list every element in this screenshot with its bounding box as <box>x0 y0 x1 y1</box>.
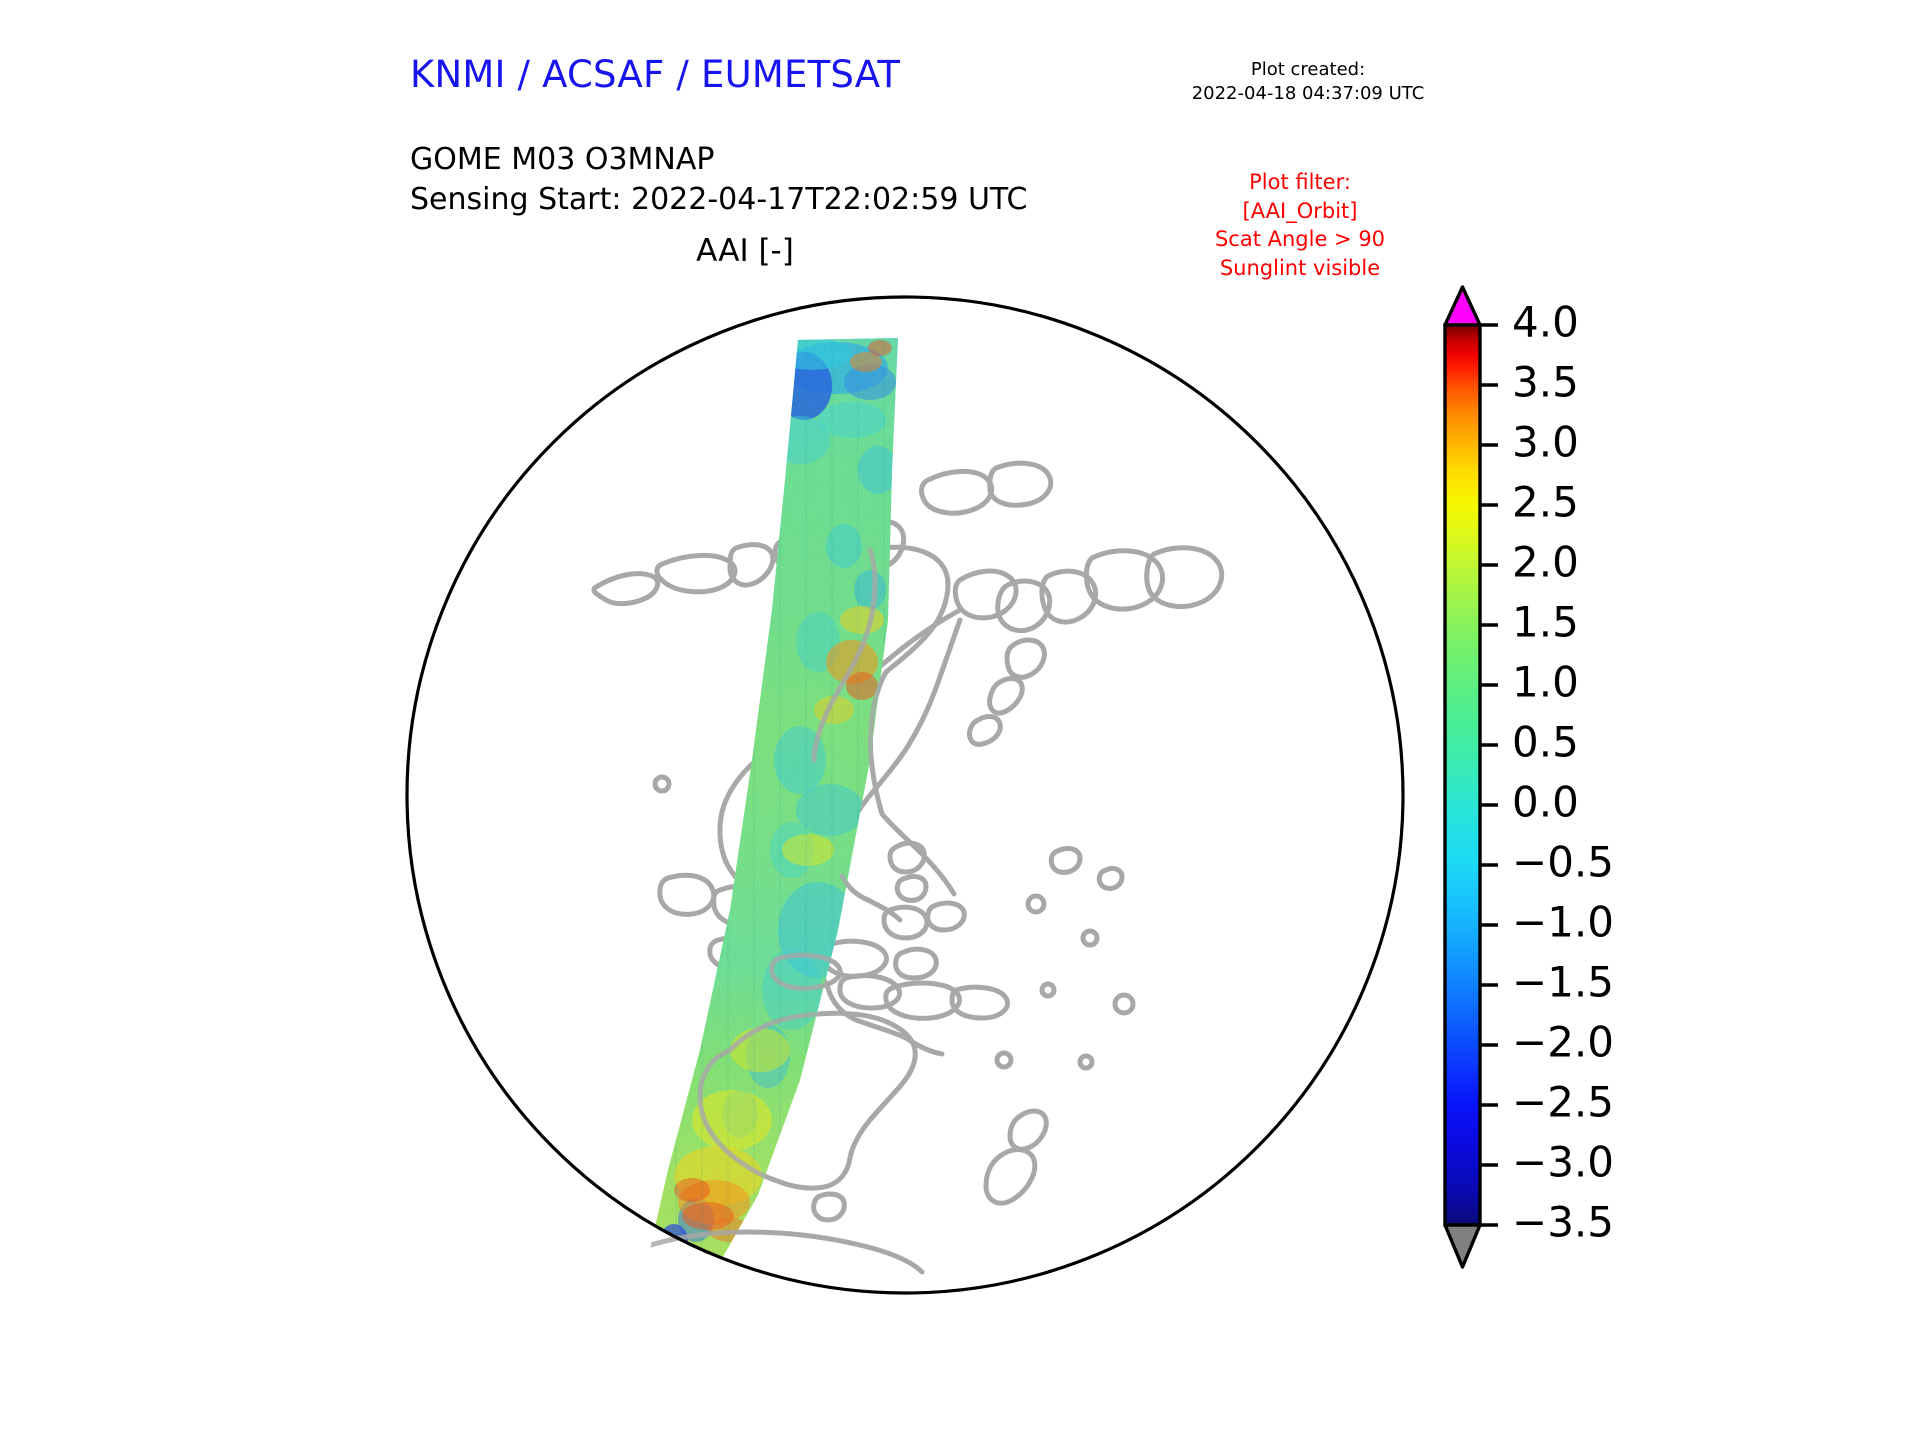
colorbar-tick-label: −0.5 <box>1512 838 1614 887</box>
colorbar: 4.0 3.5 3.0 2.5 2.0 1.5 1.0 0.5 0.0 −0.5… <box>1430 285 1730 1325</box>
sensing-start: Sensing Start: 2022-04-17T22:02:59 UTC <box>410 180 1027 220</box>
colorbar-tick-label: −3.5 <box>1512 1198 1614 1247</box>
globe-map <box>400 290 1410 1300</box>
plot-page: KNMI / ACSAF / EUMETSAT Plot created: 20… <box>0 0 1920 1440</box>
colorbar-tick-labels: 4.0 3.5 3.0 2.5 2.0 1.5 1.0 0.5 0.0 −0.5… <box>1512 298 1614 1247</box>
globe-disk <box>407 297 1403 1293</box>
plot-filter-label: Plot filter: <box>1130 168 1470 197</box>
colorbar-tick-label: −3.0 <box>1512 1138 1614 1187</box>
colorbar-tick-label: 4.0 <box>1512 298 1579 347</box>
plot-filter-product: [AAI_Orbit] <box>1130 197 1470 226</box>
colorbar-tick-label: 3.5 <box>1512 358 1579 407</box>
dataset-name: GOME M03 O3MNAP <box>410 140 1027 180</box>
colorbar-tick-label: −1.0 <box>1512 898 1614 947</box>
plot-filter-block: Plot filter: [AAI_Orbit] Scat Angle > 90… <box>1130 168 1470 282</box>
colorbar-gradient <box>1445 325 1480 1225</box>
colorbar-tick-label: −1.5 <box>1512 958 1614 1007</box>
colorbar-tick-label: 1.5 <box>1512 598 1579 647</box>
colorbar-tick-label: 2.5 <box>1512 478 1579 527</box>
colorbar-under-arrow <box>1445 1225 1480 1267</box>
colorbar-tick-label: −2.0 <box>1512 1018 1614 1067</box>
colorbar-tick-label: 3.0 <box>1512 418 1579 467</box>
plot-created-timestamp: 2022-04-18 04:37:09 UTC <box>1148 82 1468 106</box>
plot-created-block: Plot created: 2022-04-18 04:37:09 UTC <box>1148 58 1468 106</box>
colorbar-tick-label: 2.0 <box>1512 538 1579 587</box>
colorbar-tick-label: −2.5 <box>1512 1078 1614 1127</box>
colorbar-tick-label: 0.0 <box>1512 778 1579 827</box>
plot-filter-scat-angle: Scat Angle > 90 <box>1130 225 1470 254</box>
dataset-block: GOME M03 O3MNAP Sensing Start: 2022-04-1… <box>410 140 1027 220</box>
plot-created-label: Plot created: <box>1148 58 1468 82</box>
colorbar-tick-label: 0.5 <box>1512 718 1579 767</box>
colorbar-ticks <box>1480 325 1498 1225</box>
colorbar-over-arrow <box>1445 287 1480 325</box>
plot-filter-sunglint: Sunglint visible <box>1130 254 1470 283</box>
organisation-title: KNMI / ACSAF / EUMETSAT <box>410 53 900 96</box>
colorbar-tick-label: 1.0 <box>1512 658 1579 707</box>
